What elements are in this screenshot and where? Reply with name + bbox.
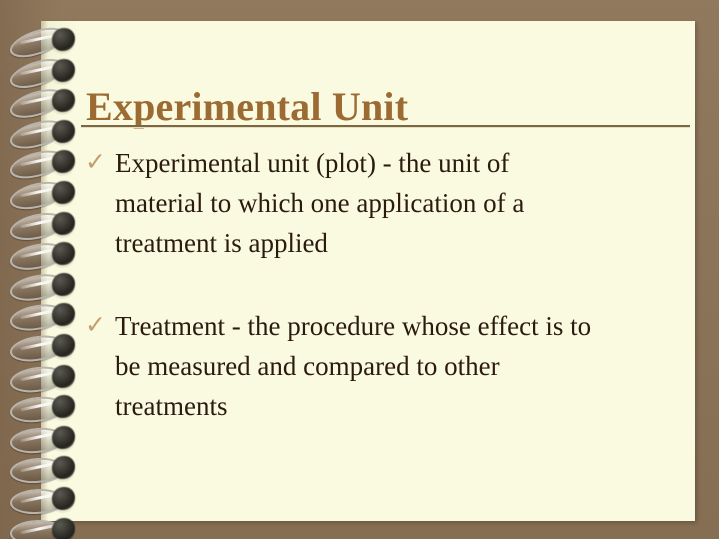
binding-ring-wire [10,519,64,539]
list-item-line: treatments [115,386,685,426]
list-item: ✓ Treatment - the procedure whose effect… [85,306,685,426]
list-item-text: Treatment - the procedure whose effect i… [115,306,685,426]
list-item-line: be measured and compared to other [115,346,685,386]
list-item-text: Experimental unit (plot) - the unit of m… [115,143,685,263]
presentation-slide: Experimental Unit ✓ Experimental unit (p… [0,0,719,539]
page-title: Experimental Unit [86,83,666,131]
check-mark-icon: ✓ [85,306,111,346]
bullet-list: ✓ Experimental unit (plot) - the unit of… [85,143,685,426]
check-mark-icon: ✓ [85,143,111,183]
list-item-line: Experimental unit (plot) - the unit of [115,143,685,183]
binding-ring-shadow [49,521,76,539]
notebook-page: Experimental Unit ✓ Experimental unit (p… [41,21,695,521]
binding-ring-highlight [20,522,62,534]
list-item-line: material to which one application of a [115,183,685,223]
list-item: ✓ Experimental unit (plot) - the unit of… [85,143,685,263]
list-item-line: treatment is applied [115,223,685,263]
title-divider [81,125,690,128]
list-item-line: Treatment - the procedure whose effect i… [115,306,685,346]
